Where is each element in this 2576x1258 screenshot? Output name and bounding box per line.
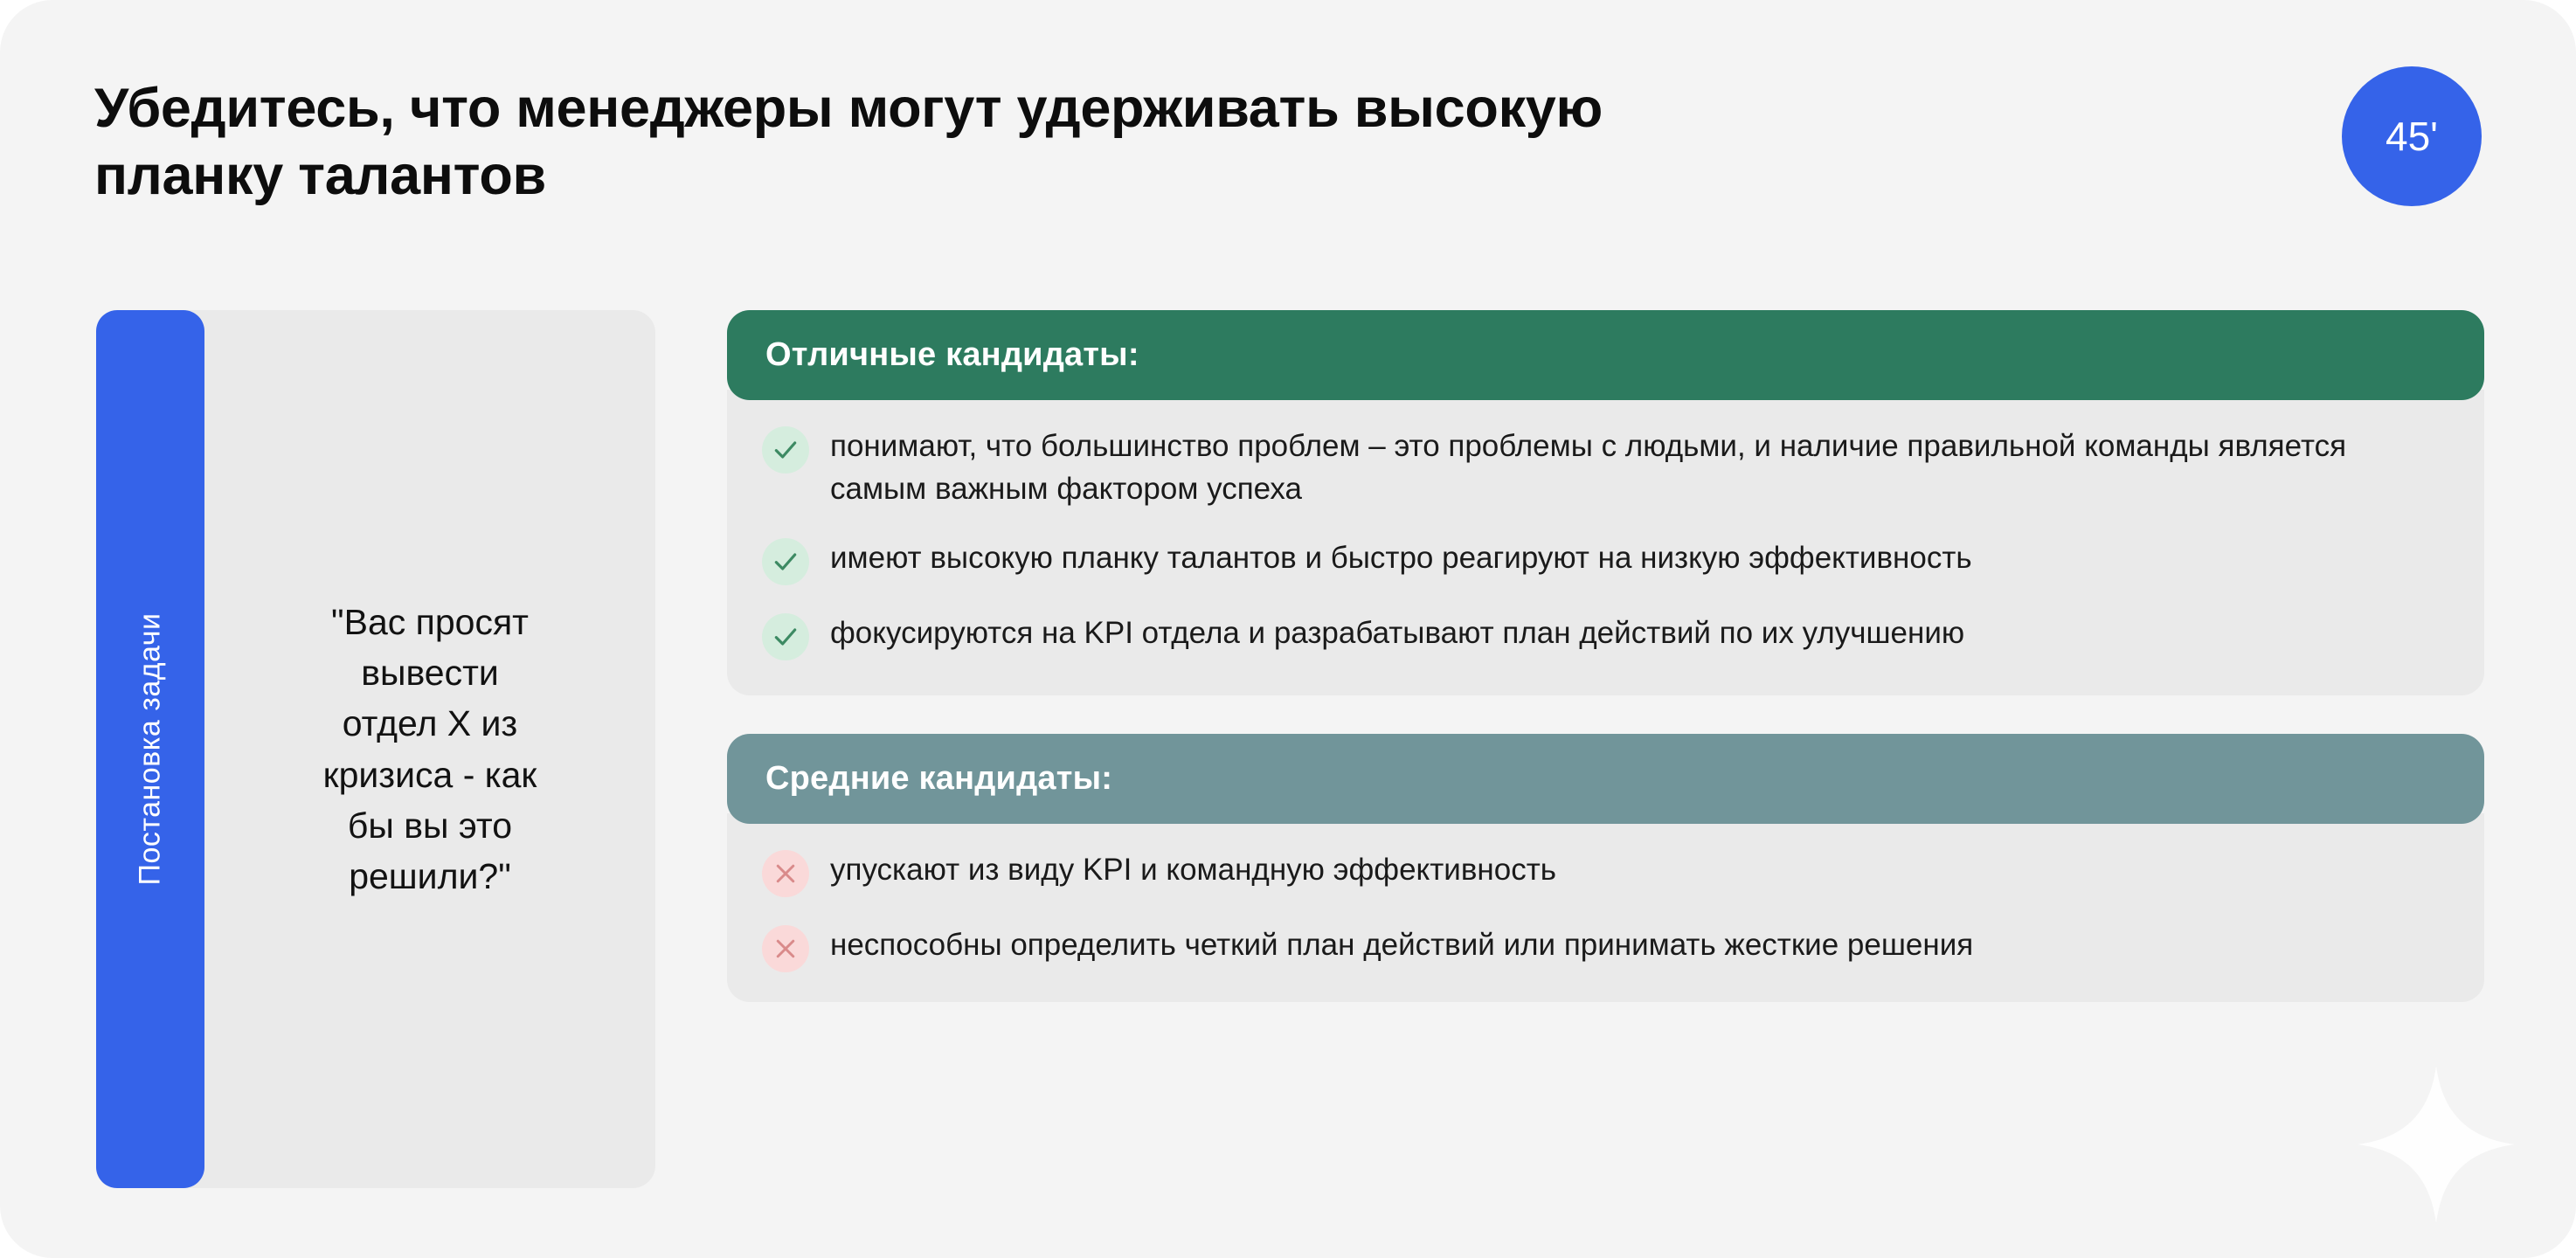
check-icon: [762, 538, 809, 585]
task-card-body: "Вас просят вывести отдел X из кризиса -…: [204, 310, 655, 1188]
group-average-candidates: Средние кандидаты: упускают из виду KPI …: [727, 734, 2484, 1002]
slide-root: Убедитесь, что менеджеры могут удерживат…: [0, 0, 2576, 1258]
task-card-tab: Постановка задачи: [96, 310, 204, 1188]
group-body-excellent: понимают, что большинство проблем – это …: [727, 390, 2484, 695]
task-card: Постановка задачи "Вас просят вывести от…: [96, 310, 655, 1188]
cross-icon: [762, 925, 809, 972]
group-header-average: Средние кандидаты:: [727, 734, 2484, 824]
list-item: имеют высокую планку талантов и быстро р…: [762, 535, 2449, 585]
duration-badge: 45': [2342, 66, 2482, 206]
task-card-tab-label: Постановка задачи: [134, 613, 168, 886]
check-icon: [762, 426, 809, 473]
check-icon: [762, 613, 809, 660]
cross-icon: [762, 850, 809, 897]
list-item-text: упускают из виду KPI и командную эффекти…: [830, 847, 1556, 891]
list-item: понимают, что большинство проблем – это …: [762, 423, 2449, 510]
list-item-text: неспособны определить четкий план действ…: [830, 922, 1973, 966]
slide-body: Постановка задачи "Вас просят вывести от…: [96, 310, 2484, 1188]
candidate-groups: Отличные кандидаты: понимают, что больши…: [727, 310, 2484, 1188]
list-item: упускают из виду KPI и командную эффекти…: [762, 847, 2449, 897]
page-title: Убедитесь, что менеджеры могут удерживат…: [94, 75, 2192, 210]
task-quote-text: "Вас просят вывести отдел X из кризиса -…: [323, 597, 537, 902]
slide-header: Убедитесь, что менеджеры могут удерживат…: [94, 75, 2482, 250]
group-excellent-candidates: Отличные кандидаты: понимают, что больши…: [727, 310, 2484, 695]
group-header-excellent: Отличные кандидаты:: [727, 310, 2484, 400]
list-item-text: имеют высокую планку талантов и быстро р…: [830, 535, 1972, 579]
list-item: неспособны определить четкий план действ…: [762, 922, 2449, 972]
duration-badge-label: 45': [2386, 113, 2438, 160]
group-body-average: упускают из виду KPI и командную эффекти…: [727, 813, 2484, 1002]
list-item-text: понимают, что большинство проблем – это …: [830, 423, 2449, 510]
list-item: фокусируются на KPI отдела и разрабатыва…: [762, 610, 2449, 660]
list-item-text: фокусируются на KPI отдела и разрабатыва…: [830, 610, 1964, 654]
